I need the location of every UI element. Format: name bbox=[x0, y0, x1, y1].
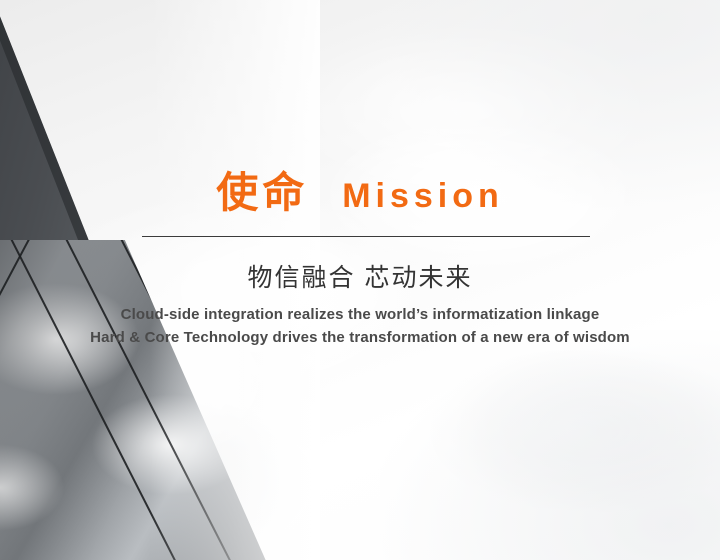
page-title-chinese: 使命 bbox=[216, 169, 308, 216]
title-divider bbox=[142, 236, 590, 237]
page-title: 使命Mission bbox=[0, 172, 720, 214]
mission-banner: 使命Mission 物信融合 芯动未来 Cloud-side integrati… bbox=[0, 0, 720, 560]
description-line-2: Hard & Core Technology drives the transf… bbox=[0, 326, 720, 349]
banner-content: 使命Mission 物信融合 芯动未来 Cloud-side integrati… bbox=[0, 0, 720, 560]
description-line-1: Cloud-side integration realizes the worl… bbox=[0, 303, 720, 326]
description-block: Cloud-side integration realizes the worl… bbox=[0, 303, 720, 349]
page-title-english: Mission bbox=[342, 177, 504, 215]
subtitle: 物信融合 芯动未来 bbox=[0, 258, 720, 294]
